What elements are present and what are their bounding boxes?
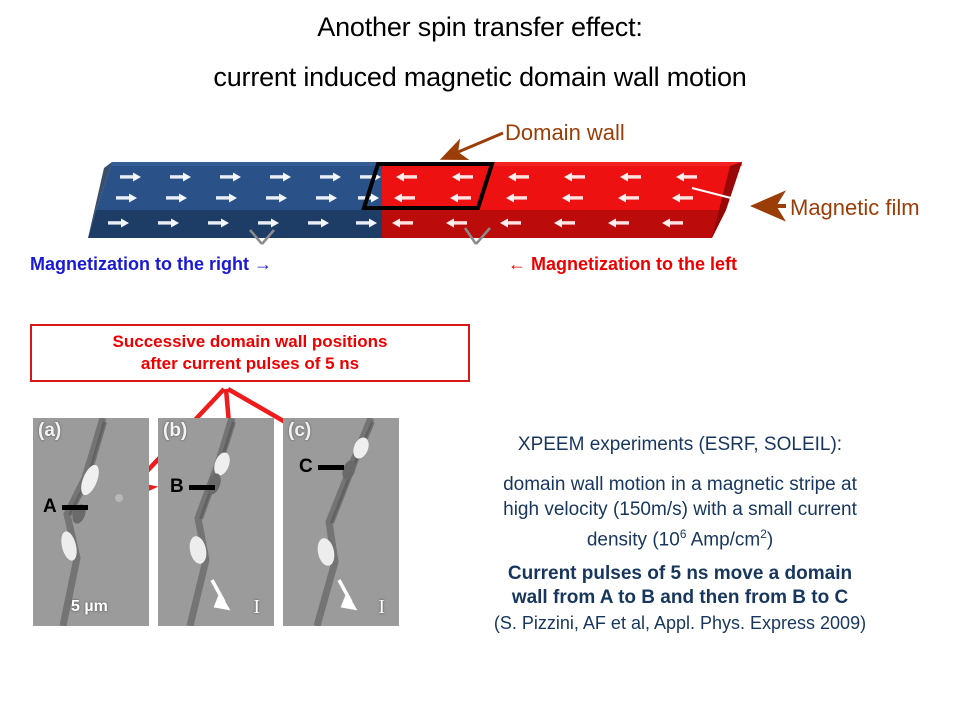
panel-tag-a: (a) (38, 420, 61, 442)
description-line-2: high velocity (150m/s) with a small curr… (400, 497, 960, 522)
xpeem-heading: XPEEM experiments (ESRF, SOLEIL): (400, 434, 960, 456)
slide-title-line-2: current induced magnetic domain wall mot… (0, 62, 960, 93)
callout-line-1: Successive domain wall positions (113, 331, 388, 353)
current-label-c: I (378, 596, 385, 619)
scale-bar: 5 µm (71, 598, 108, 616)
marker-a: A (43, 496, 88, 518)
magnetic-film-label: Magnetic film (790, 195, 920, 221)
citation: (S. Pizzini, AF et al, Appl. Phys. Expre… (400, 610, 960, 636)
panel-tag-c: (c) (288, 420, 311, 442)
conclusion-line-2: wall from A to B and then from B to C (400, 586, 960, 610)
marker-c: C (299, 456, 344, 478)
marker-b: B (170, 476, 215, 498)
xpeem-panel-b[interactable]: (b) B I (158, 418, 274, 626)
description-line-1: domain wall motion in a magnetic stripe … (400, 472, 960, 497)
magnetization-right-label: Magnetization to the right → (30, 254, 272, 275)
domain-wall-leader-arrow (444, 133, 503, 158)
successive-positions-callout: Successive domain wall positions after c… (30, 324, 470, 382)
xpeem-panel-c[interactable]: (c) C I (283, 418, 399, 626)
current-label-b: I (253, 596, 260, 619)
domain-wall-label: Domain wall (505, 120, 625, 146)
callout-line-2: after current pulses of 5 ns (141, 353, 359, 375)
magnetic-film-diagram (0, 110, 960, 270)
marker-dash-icon (189, 485, 215, 490)
panel-tag-b: (b) (163, 420, 187, 442)
magnetization-left-label: ← Magnetization to the left (508, 254, 737, 275)
description-line-3: density (106 Amp/cm2) (400, 522, 960, 552)
xpeem-panel-a[interactable]: (a) A 5 µm (33, 418, 149, 626)
conclusion-block: Current pulses of 5 ns move a domain wal… (400, 562, 960, 636)
marker-dash-icon (318, 465, 344, 470)
slide-title-line-1: Another spin transfer effect: (0, 12, 960, 43)
xpeem-description: domain wall motion in a magnetic stripe … (400, 472, 960, 552)
conclusion-line-1: Current pulses of 5 ns move a domain (400, 562, 960, 586)
xpeem-image-panels: (a) A 5 µm (b) B I (33, 418, 399, 626)
scale-bar-label: 5 µm (71, 598, 108, 615)
marker-dash-icon (62, 505, 88, 510)
